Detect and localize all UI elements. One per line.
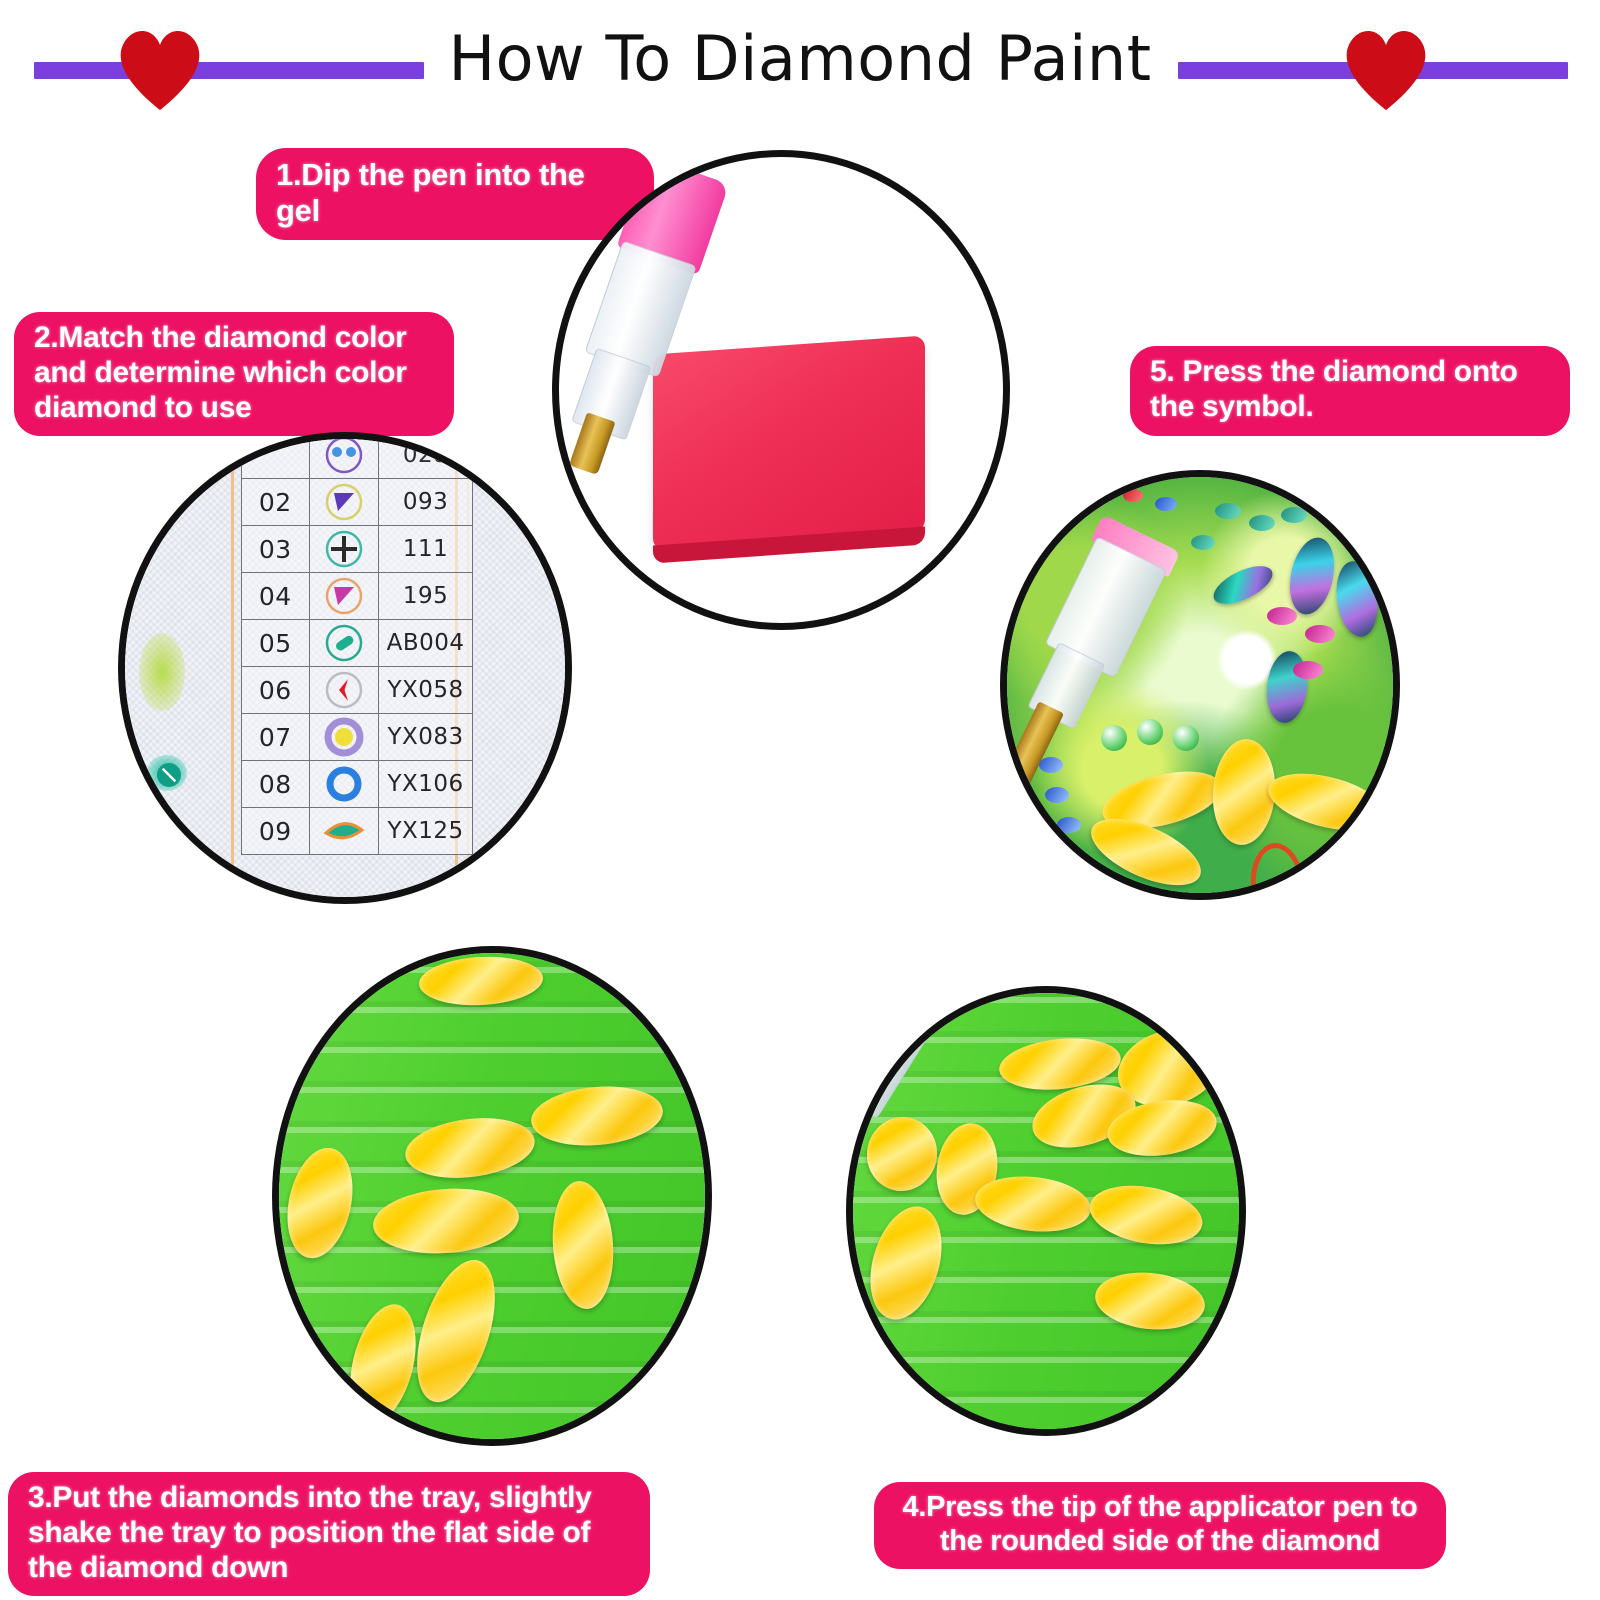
legend-symbol-cell: [309, 761, 379, 808]
gem-blue-dot: [1057, 817, 1081, 833]
chart-margin-line-left: [231, 437, 234, 899]
dot-in-ring-icon: [310, 716, 379, 758]
color-legend-table: 02802 09303 11104 19505 AB00406 YX05807 …: [241, 432, 473, 855]
legend-code-cell: 028: [379, 432, 473, 479]
color-legend-body: 02802 09303 11104 19505 AB00406 YX05807 …: [242, 432, 473, 855]
photo-pressing-diamond-onto-canvas: [1000, 470, 1400, 900]
legend-symbol-cell: [309, 714, 379, 761]
color-legend-row: 06 YX058: [242, 667, 473, 714]
step-5-label: 5. Press the diamond onto the symbol.: [1130, 346, 1570, 436]
legend-symbol-cell: [309, 620, 379, 667]
gel-pad: [653, 335, 925, 550]
gem-magenta-dot: [1267, 607, 1297, 625]
pen-tip: [1003, 701, 1064, 787]
photo-pen-dipping-gel-pad: [552, 150, 1010, 630]
plus-icon: [310, 528, 379, 570]
color-legend-row: 09YX125: [242, 808, 473, 855]
legend-code-cell: AB004: [379, 620, 473, 667]
photo-pen-picking-up-diamond: [846, 986, 1246, 1436]
step-2-label: 2.Match the diamond color and determine …: [14, 312, 454, 436]
gem-teal-dot: [1281, 507, 1307, 523]
gem-green-round: [1101, 725, 1127, 751]
legend-index-cell: 05: [242, 620, 310, 667]
legend-index-cell: 07: [242, 714, 310, 761]
gem-teal-dot: [1191, 535, 1215, 550]
gem-blue-dot: [1155, 497, 1177, 511]
legend-index-cell: 09: [242, 808, 310, 855]
legend-index-cell: 06: [242, 667, 310, 714]
photo-color-symbol-chart: 02802 09303 11104 19505 AB00406 YX05807 …: [118, 432, 572, 904]
step-4-label: 4.Press the tip of the applicator pen to…: [874, 1482, 1446, 1569]
legend-symbol-cell: [309, 479, 379, 526]
color-legend-row: 04 195: [242, 573, 473, 620]
legend-code-cell: YX083: [379, 714, 473, 761]
ring-icon: [310, 763, 379, 805]
capsule-icon: [310, 622, 379, 664]
infographic-page: How To Diamond Paint 1.Dip the pen into …: [0, 0, 1600, 1600]
gem-green-round: [1137, 719, 1163, 745]
color-legend-row: 02 093: [242, 479, 473, 526]
leaf-icon: [310, 810, 379, 852]
gem-teal-dot: [1215, 503, 1241, 519]
triangle-icon: [310, 575, 379, 617]
triangle-icon: [310, 481, 379, 523]
gem-red-dot: [1123, 489, 1143, 502]
color-legend-row: 028: [242, 432, 473, 479]
canvas-print-symbol: [147, 755, 187, 791]
legend-code-cell: YX058: [379, 667, 473, 714]
photo-diamonds-in-green-tray: [272, 946, 712, 1446]
legend-symbol-cell: [309, 667, 379, 714]
step-3-label: 3.Put the diamonds into the tray, slight…: [8, 1472, 650, 1596]
legend-symbol-cell: [309, 808, 379, 855]
legend-code-cell: YX125: [379, 808, 473, 855]
page-title: How To Diamond Paint: [0, 22, 1600, 95]
gem-teal-dot: [1249, 515, 1275, 531]
gem-magenta-dot: [1293, 661, 1323, 679]
gem-green-round: [1173, 725, 1199, 751]
color-legend-row: 03 111: [242, 526, 473, 573]
legend-code-cell: 093: [379, 479, 473, 526]
legend-code-cell: YX106: [379, 761, 473, 808]
legend-code-cell: 195: [379, 573, 473, 620]
legend-index-cell: 04: [242, 573, 310, 620]
legend-symbol-cell: [309, 526, 379, 573]
double-dot-circle-icon: [310, 434, 379, 476]
legend-index-cell: 08: [242, 761, 310, 808]
color-legend-row: 05 AB004: [242, 620, 473, 667]
legend-code-cell: 111: [379, 526, 473, 573]
color-legend-row: 08YX106: [242, 761, 473, 808]
legend-index-cell: 03: [242, 526, 310, 573]
chevron-left-icon: [310, 669, 379, 711]
page-header: How To Diamond Paint: [0, 0, 1600, 132]
color-legend-row: 07 YX083: [242, 714, 473, 761]
legend-index-cell: [242, 432, 310, 479]
canvas-print-green: [139, 633, 185, 711]
gem-magenta-dot: [1305, 625, 1335, 643]
legend-symbol-cell: [309, 573, 379, 620]
legend-index-cell: 02: [242, 479, 310, 526]
legend-symbol-cell: [309, 432, 379, 479]
